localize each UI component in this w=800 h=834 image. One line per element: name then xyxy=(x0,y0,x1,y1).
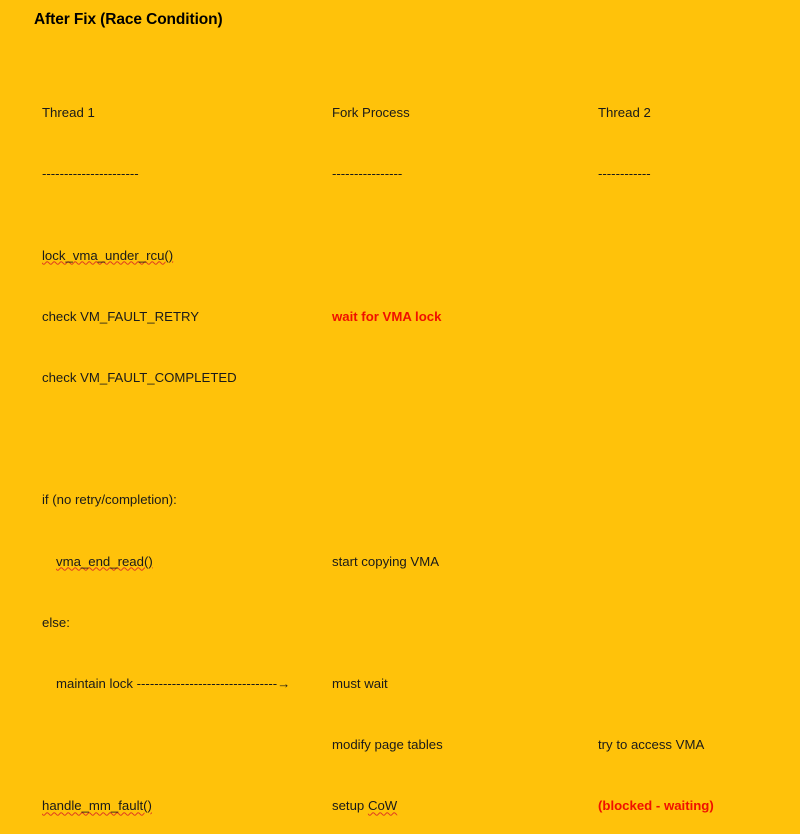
column-thread1: Thread 1 ---------------------- lock_vma… xyxy=(42,62,290,834)
thread1-line-if-no-retry: if (no retry/completion): xyxy=(42,490,290,510)
thread2-spacer-7 xyxy=(598,613,731,633)
code-token-lock-vma-under-rcu: lock_vma_under_rcu() xyxy=(42,246,173,266)
fork-line-modify-page-tables: modify page tables xyxy=(332,735,449,755)
thread2-line-blocked-waiting: (blocked - waiting) xyxy=(598,796,731,816)
fork-spacer-3 xyxy=(332,429,449,449)
thread2-spacer-5 xyxy=(598,490,731,510)
flow-arrow-dashes: -------------------------------- xyxy=(137,676,278,691)
fork-spacer-1 xyxy=(332,246,449,266)
maintain-lock-label: maintain lock xyxy=(56,676,137,691)
thread2-spacer-4 xyxy=(598,429,731,449)
thread1-line-maintain-lock: maintain lock --------------------------… xyxy=(42,674,290,694)
code-token-cow: CoW xyxy=(368,796,397,816)
thread1-line-check-vm-fault-retry: check VM_FAULT_RETRY xyxy=(42,307,290,327)
column-thread2: Thread 2 ------------ try to access VMA … xyxy=(598,62,731,834)
column-rule-thread1: ---------------------- xyxy=(42,164,290,184)
column-rule-fork-process: ---------------- xyxy=(332,164,449,184)
thread1-spacer-2 xyxy=(42,735,290,755)
thread1-line-vma-end-read: vma_end_read() xyxy=(42,552,290,572)
fork-spacer-2 xyxy=(332,368,449,388)
flow-arrow-head-icon: → xyxy=(277,676,290,691)
thread1-line-handle-mm-fault: handle_mm_fault() xyxy=(42,796,290,816)
thread1-spacer-1 xyxy=(42,429,290,449)
column-rule-thread2: ------------ xyxy=(598,164,731,184)
thread1-line-lock-vma-under-rcu: lock_vma_under_rcu() xyxy=(42,246,290,266)
thread2-spacer-1 xyxy=(598,246,731,266)
setup-label: setup xyxy=(332,798,368,813)
column-header-fork-process: Fork Process xyxy=(332,103,449,123)
thread2-spacer-3 xyxy=(598,368,731,388)
fork-line-must-wait: must wait xyxy=(332,674,449,694)
column-fork-process: Fork Process ---------------- wait for V… xyxy=(332,62,449,834)
thread2-spacer-8 xyxy=(598,674,731,694)
page-title: After Fix (Race Condition) xyxy=(34,11,223,29)
slide-canvas: After Fix (Race Condition) Thread 1 ----… xyxy=(0,0,800,417)
thread1-line-else: else: xyxy=(42,613,290,633)
fork-line-start-copying-vma: start copying VMA xyxy=(332,552,449,572)
thread2-spacer-2 xyxy=(598,307,731,327)
fork-line-wait-for-vma-lock: wait for VMA lock xyxy=(332,307,449,327)
thread2-spacer-6 xyxy=(598,552,731,572)
column-header-thread2: Thread 2 xyxy=(598,103,731,123)
code-token-vma-end-read: vma_end_read() xyxy=(56,552,153,572)
fork-spacer-4 xyxy=(332,490,449,510)
column-header-thread1: Thread 1 xyxy=(42,103,290,123)
fork-line-setup-cow: setup CoW xyxy=(332,796,449,816)
fork-spacer-5 xyxy=(332,613,449,633)
code-token-handle-mm-fault: handle_mm_fault() xyxy=(42,796,152,816)
thread1-line-check-vm-fault-completed: check VM_FAULT_COMPLETED xyxy=(42,368,290,388)
thread2-line-try-to-access-vma: try to access VMA xyxy=(598,735,731,755)
